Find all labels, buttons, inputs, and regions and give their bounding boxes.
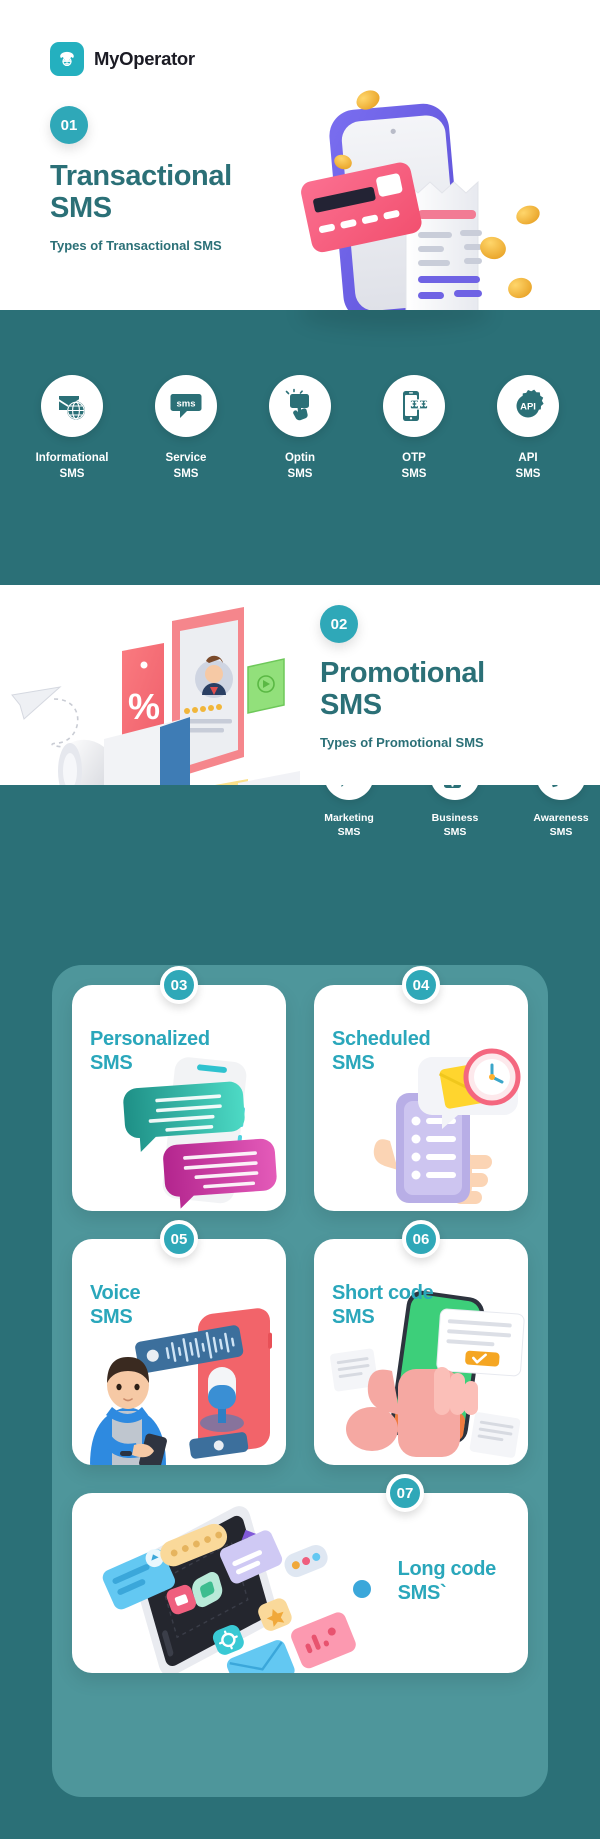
phone-password-icon: ✱✱✱ [383,375,445,437]
megaphone-burst-icon [536,785,586,800]
section-02-hero: % [0,585,600,785]
illustration-shadow [300,310,490,330]
icon-label-line2: SMS [374,467,454,483]
card-title-line1: Long code [398,1557,496,1581]
section-02-subtitle: Types of Promotional SMS [320,735,580,750]
cards-section: 03 [0,930,600,1839]
section-02-icon-row: Marketing SMS Business SMS [310,785,600,839]
section-01-text: 01 Transactional SMS Types of Transactio… [50,106,350,253]
icon-label-line1: Business [416,811,494,825]
card-number-badge: 03 [160,966,198,1004]
svg-text:%: % [128,686,160,727]
card-number-badge: 07 [386,1474,424,1512]
cards-grid: 03 [72,985,528,1673]
icon-item-business-sms[interactable]: Business SMS [416,785,494,839]
icon-item-otp-sms[interactable]: ✱✱✱ OTP SMS [374,375,454,482]
icon-item-informational-sms[interactable]: Informational SMS [32,375,112,482]
icon-label-line2: SMS [146,467,226,483]
icon-label-line2: SMS [488,467,568,483]
card-number-badge: 06 [402,1220,440,1258]
sms-bubble-icon: sms [155,375,217,437]
megaphone-bubble-icon [324,785,374,800]
icon-label-line1: API [488,451,568,467]
section-02-number: 02 [320,605,358,643]
card-personalized-sms[interactable]: 03 [72,985,286,1211]
envelope-globe-icon [41,375,103,437]
icon-label-line2: SMS [522,825,600,839]
card-number-badge: 05 [160,1220,198,1258]
icon-item-marketing-sms[interactable]: Marketing SMS [310,785,388,839]
card-voice-sms[interactable]: 05 [72,1239,286,1465]
tap-finger-icon [269,375,331,437]
icon-label-line2: SMS [32,467,112,483]
section-02-title-line2: SMS [320,689,580,721]
card-title-line1: Short code [332,1281,433,1305]
card-title-line2: SMS [332,1305,433,1329]
icon-item-optin-sms[interactable]: Optin SMS [260,375,340,482]
telephone-icon [50,42,84,76]
section-01-number: 01 [50,106,88,144]
card-scheduled-sms[interactable]: 04 [314,985,528,1211]
section-01-subtitle: Types of Transactional SMS [50,238,350,253]
card-number-badge: 04 [402,966,440,1004]
brand-logo[interactable]: MyOperator [50,42,195,76]
illustration-phone-chat-bubbles [72,985,286,1211]
card-long-code-sms[interactable]: 07 [72,1493,528,1673]
icon-label-line1: Informational [32,451,112,467]
card-title-line2: SMS` [398,1581,496,1605]
api-gear-icon: API [497,375,559,437]
icon-label-line1: Optin [260,451,340,467]
icon-item-awareness-sms[interactable]: Awareness SMS [522,785,600,839]
hero-illustration-promotional: % [0,595,296,785]
card-title-line2: SMS [90,1051,210,1075]
icon-label-line1: Awareness [522,811,600,825]
icon-label-line1: Marketing [310,811,388,825]
card-short-code-sms[interactable]: 06 [314,1239,528,1465]
section-02-text: 02 Promotional SMS Types of Promotional … [320,605,580,750]
svg-text:sms: sms [176,399,195,410]
icon-label-line1: OTP [374,451,454,467]
brand-name: MyOperator [94,48,195,70]
card-title-line1: Scheduled [332,1027,430,1051]
svg-text:API: API [520,402,536,413]
illustration-person-microphone [72,1239,286,1465]
icon-label-line2: SMS [416,825,494,839]
icon-label-line1: Service [146,451,226,467]
phone-chat-icon [430,785,480,800]
icon-item-service-sms[interactable]: sms Service SMS [146,375,226,482]
section-01-icon-row: Informational SMS sms Service SMS [0,375,600,482]
svg-text:✱✱✱: ✱✱✱ [405,399,433,411]
section-02-icon-band: Marketing SMS Business SMS [0,785,600,930]
card-title-line1: Voice [90,1281,140,1305]
icon-label-line2: SMS [260,467,340,483]
section-02-title-line1: Promotional [320,657,580,689]
section-01-title-line2: SMS [50,192,350,224]
icon-label-line2: SMS [310,825,388,839]
section-01-title-line1: Transactional [50,160,350,192]
section-01-hero: MyOperator [0,0,600,310]
icon-item-api-sms[interactable]: API API SMS [488,375,568,482]
section-01-icon-band: Informational SMS sms Service SMS [0,310,600,585]
card-title-line2: SMS [332,1051,430,1075]
card-title-line1: Personalized [90,1027,210,1051]
card-title-line2: SMS [90,1305,140,1329]
illustration-hand-phone-documents [314,1239,528,1465]
illustration-hand-checklist-clock [314,985,528,1211]
